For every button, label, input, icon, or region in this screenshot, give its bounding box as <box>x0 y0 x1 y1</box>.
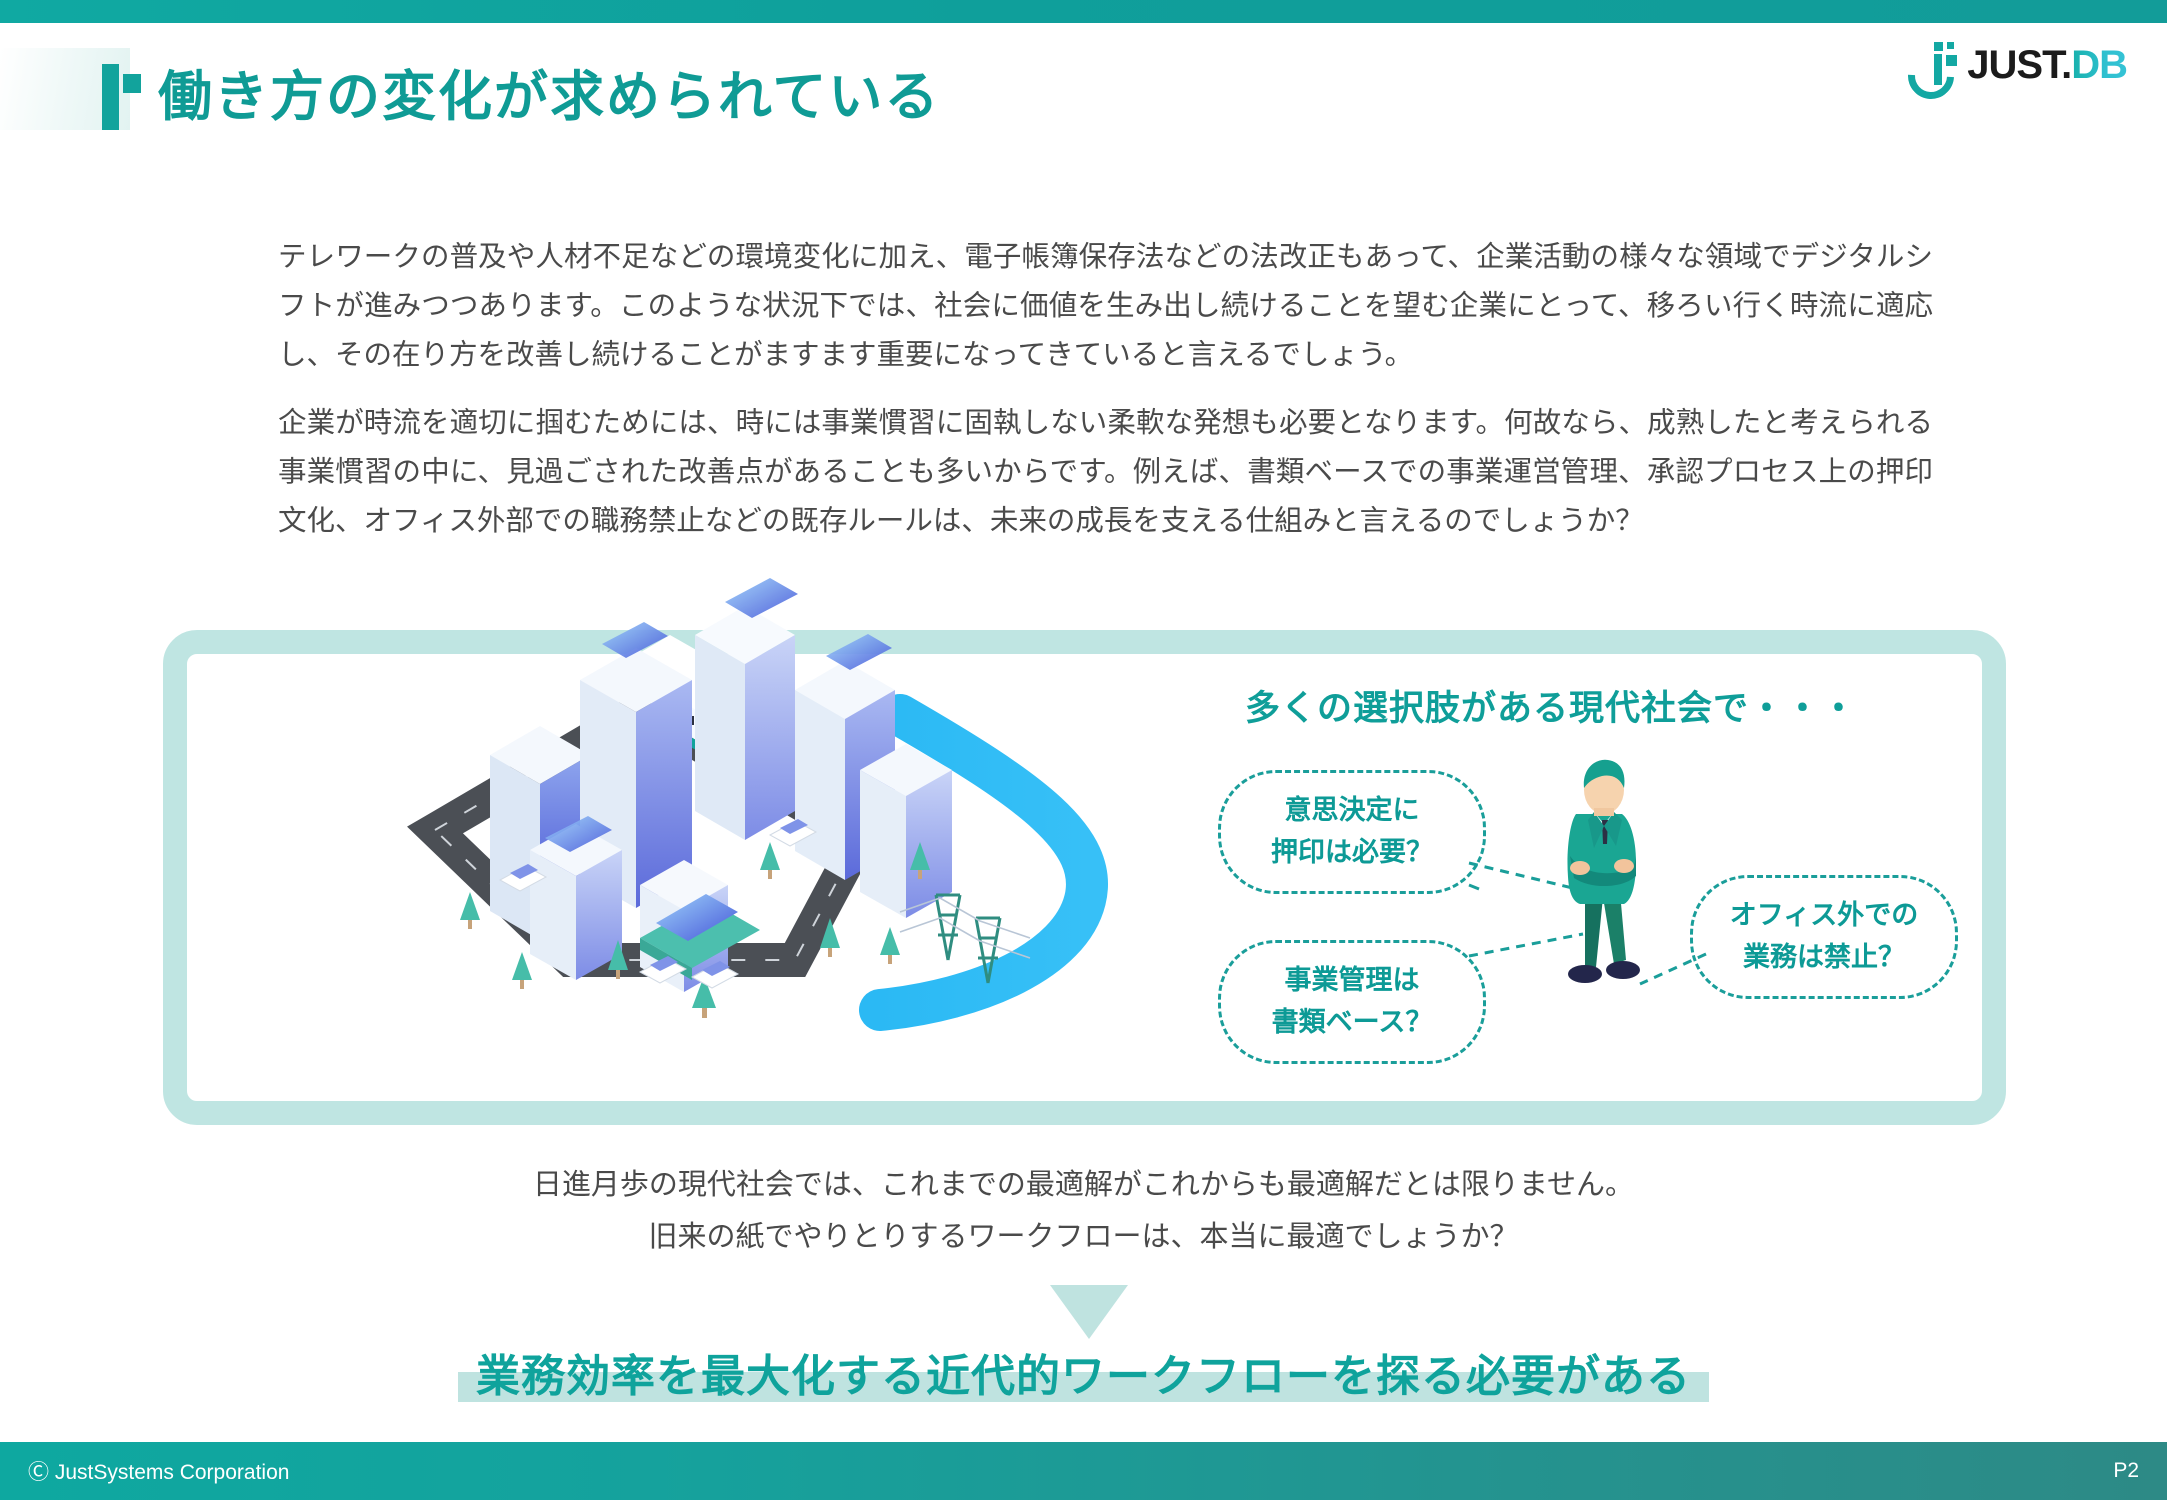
logo-text-db: DB <box>2071 43 2127 87</box>
intro-paragraph-1: テレワークの普及や人材不足などの環境変化に加え、電子帳簿保存法などの法改正もあっ… <box>278 232 1933 379</box>
businessman-illustration <box>1528 752 1678 1002</box>
logo-text-just: JUST <box>1967 43 2061 87</box>
illustration-headline: 多くの選択肢がある現代社会で・・・ <box>1245 680 1857 731</box>
slide-root: 働き方の変化が求められている JUST.DB テレワークの普及や人材不足などの環… <box>0 0 2167 1500</box>
footer: Ⓒ JustSystems Corporation P2 <box>0 1442 2167 1500</box>
down-arrow-icon <box>1050 1285 1128 1339</box>
closing-copy: 日進月歩の現代社会では、これまでの最適解がこれからも最適解だとは限りません。 旧… <box>0 1158 2167 1262</box>
speech-bubble-stamp: 意思決定に 押印は必要？ <box>1218 770 1486 894</box>
header-top-bar <box>0 0 2167 23</box>
title-accent-square-icon <box>123 74 141 93</box>
justdb-logo: JUST.DB <box>1908 42 2127 87</box>
logo-text-dot: . <box>2061 43 2071 87</box>
logo-wordmark: JUST.DB <box>1967 45 2127 85</box>
justdb-logo-icon <box>1908 42 1958 87</box>
speech-bubble-office-line1: オフィス外での <box>1730 895 1918 937</box>
title-accent-bar-icon <box>102 64 119 130</box>
speech-bubble-office-line2: 業務は禁止？ <box>1730 937 1918 979</box>
closing-line-2: 旧来の紙でやりとりするワークフローは、本当に最適でしょうか？ <box>0 1210 2167 1262</box>
speech-bubble-paper-line2: 書類ベース？ <box>1272 1002 1433 1044</box>
final-message-wrap: 業務効率を最大化する近代的ワークフローを探る必要がある <box>0 1340 2167 1404</box>
footer-copyright: Ⓒ JustSystems Corporation <box>28 1456 289 1486</box>
city-illustration-clip <box>140 540 2030 1150</box>
isometric-city-illustration <box>340 540 1240 1150</box>
speech-bubble-office: オフィス外での 業務は禁止？ <box>1690 875 1958 999</box>
speech-bubble-stamp-line1: 意思決定に <box>1271 790 1433 832</box>
speech-bubble-stamp-line2: 押印は必要？ <box>1271 832 1433 874</box>
intro-paragraph-2: 企業が時流を適切に掴むためには、時には事業慣習に固執しない柔軟な発想も必要となり… <box>278 398 1933 545</box>
speech-bubble-paper: 事業管理は 書類ベース？ <box>1218 940 1486 1064</box>
final-message: 業務効率を最大化する近代的ワークフローを探る必要がある <box>476 1351 1691 1402</box>
closing-line-1: 日進月歩の現代社会では、これまでの最適解がこれからも最適解だとは限りません。 <box>0 1158 2167 1210</box>
footer-page-number: P2 <box>2113 1459 2139 1483</box>
speech-bubble-paper-line1: 事業管理は <box>1272 960 1433 1002</box>
page-title: 働き方の変化が求められている <box>158 52 940 131</box>
